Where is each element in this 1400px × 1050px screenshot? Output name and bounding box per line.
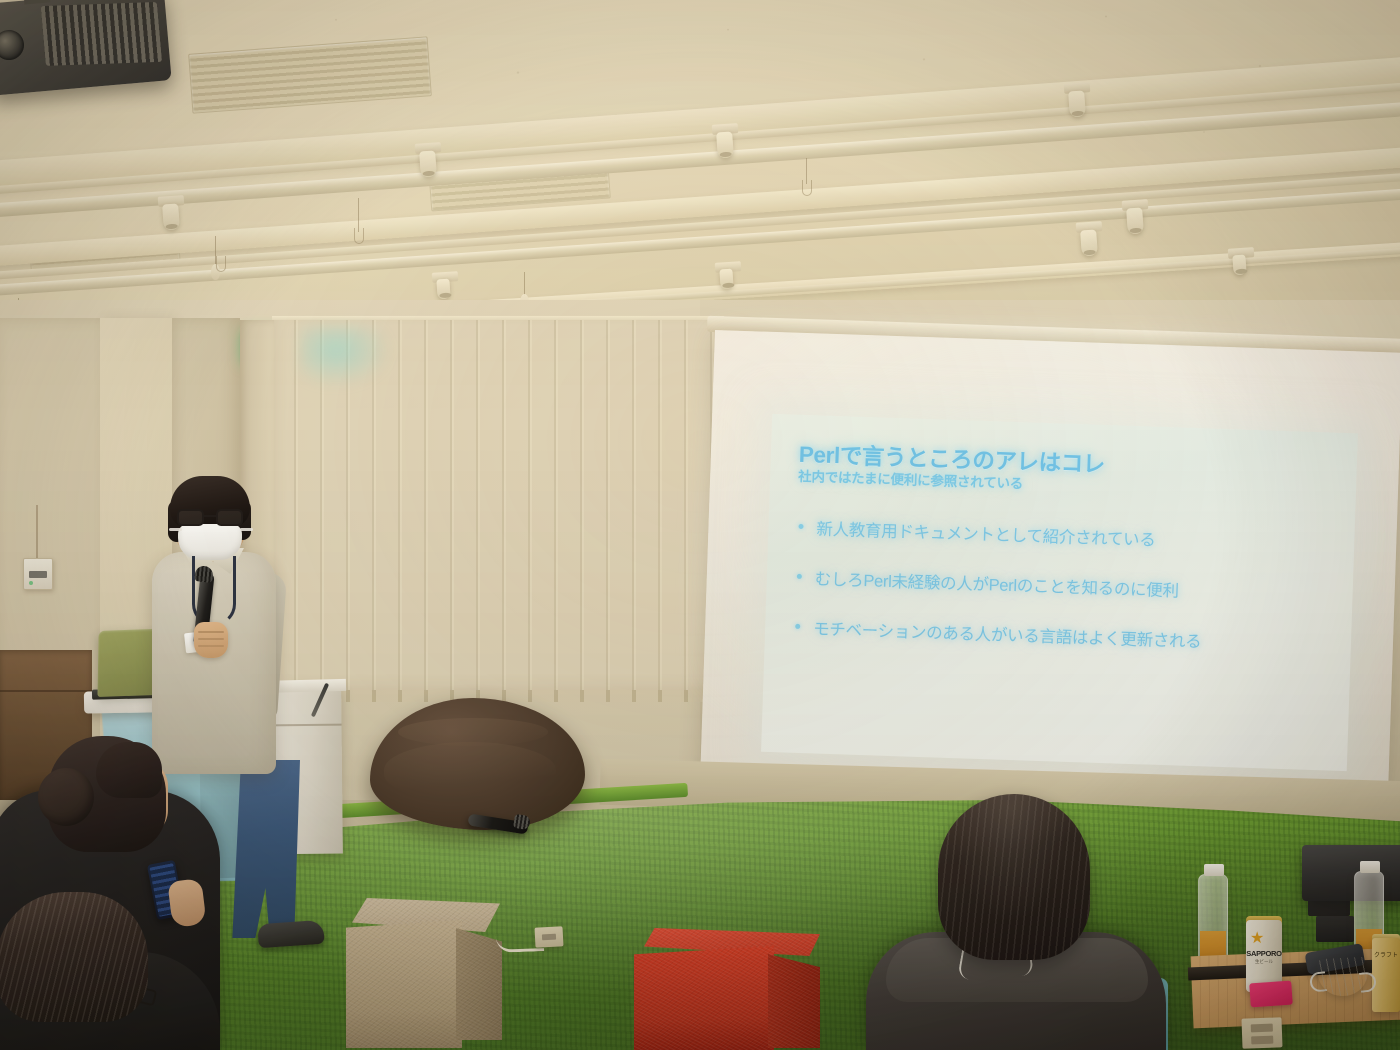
slide-bullet-list: 新人教育用ドキュメントとして紹介されている むしろPerl未経験の人がPerlの… bbox=[790, 515, 1339, 683]
wall-control-panel[interactable] bbox=[23, 558, 53, 590]
projection-screen-assembly: Perlで言うところのアレはコレ 社内ではたまに便利に参照されている 新人教育用… bbox=[699, 300, 1400, 843]
projected-slide: Perlで言うところのアレはコレ 社内ではたまに便利に参照されている 新人教育用… bbox=[761, 414, 1358, 771]
slide-bullet-item: 新人教育用ドキュメントとして紹介されている bbox=[794, 515, 1338, 557]
presenter-glasses bbox=[176, 509, 244, 526]
craft-can-label: クラフト bbox=[1372, 952, 1400, 960]
track-spotlight bbox=[419, 150, 437, 177]
dark-bench-seat[interactable] bbox=[1302, 845, 1400, 901]
ceiling-hook bbox=[802, 180, 812, 196]
cube-front-face bbox=[346, 920, 462, 1048]
control-panel-antenna bbox=[36, 505, 38, 559]
slide-bullet-item: むしろPerl未経験の人がPerlのことを知るのに便利 bbox=[792, 565, 1336, 607]
track-spotlight bbox=[716, 131, 734, 158]
control-panel-led bbox=[29, 581, 33, 585]
bottle-cap bbox=[1360, 861, 1380, 873]
floor-power-outlet[interactable] bbox=[534, 926, 563, 947]
hanging-wire bbox=[524, 272, 525, 296]
bench-leg bbox=[1316, 916, 1354, 942]
ceiling-projector bbox=[0, 0, 172, 96]
pink-card-holder[interactable] bbox=[1249, 981, 1293, 1008]
track-spotlight bbox=[162, 203, 180, 230]
blinds-light-reflection bbox=[300, 326, 390, 386]
wall-power-outlet[interactable] bbox=[1241, 1017, 1282, 1048]
ottoman-cube-red[interactable] bbox=[634, 928, 820, 1050]
projection-screen: Perlで言うところのアレはコレ 社内ではたまに便利に参照されている 新人教育用… bbox=[700, 330, 1400, 805]
projector-vent-grille bbox=[41, 2, 162, 66]
hanging-wire bbox=[358, 198, 359, 232]
glasses-lens-right bbox=[216, 509, 243, 526]
attendee-head bbox=[938, 794, 1090, 960]
slide-bullet-item: モチベーションのある人がいる言語はよく更新される bbox=[791, 615, 1335, 657]
outlet-socket bbox=[542, 934, 556, 941]
control-panel-display bbox=[29, 571, 47, 578]
track-spotlight bbox=[1068, 90, 1086, 117]
cube-side-face bbox=[456, 928, 502, 1040]
attendee-hair-bun bbox=[38, 768, 94, 826]
outlet-socket bbox=[1251, 1024, 1273, 1033]
presenter-face-mask bbox=[178, 524, 242, 560]
outlet-socket bbox=[1251, 1036, 1273, 1045]
beer-can-brand-label: SAPPORO bbox=[1246, 949, 1282, 958]
beanbag-fold bbox=[384, 742, 556, 798]
track-spotlight bbox=[1126, 207, 1144, 234]
ceiling-hook bbox=[216, 256, 226, 272]
mask-ear-strap bbox=[169, 528, 182, 531]
cube-front-face bbox=[634, 946, 774, 1050]
sapporo-star-icon: ★ bbox=[1250, 931, 1265, 946]
track-spotlight bbox=[1080, 229, 1098, 256]
wainscot-seam bbox=[0, 690, 92, 692]
projector-lens bbox=[0, 29, 25, 62]
mask-ear-strap bbox=[240, 528, 253, 531]
presentation-photo-scene: Perlで言うところのアレはコレ 社内ではたまに便利に参照されている 新人教育用… bbox=[0, 0, 1400, 1050]
beer-can-sub-label: 生ビール bbox=[1246, 959, 1282, 965]
track-spotlight bbox=[1232, 255, 1246, 276]
projector-mount bbox=[23, 0, 50, 5]
bottle-cap bbox=[1204, 864, 1224, 876]
attendee-hair-front bbox=[96, 742, 162, 798]
glasses-bridge bbox=[204, 515, 216, 517]
ceiling-hook bbox=[354, 228, 364, 244]
presenter-shoe bbox=[257, 920, 325, 949]
glasses-lens-left bbox=[177, 509, 204, 526]
presenter-hand bbox=[194, 622, 228, 658]
attendee-head bbox=[0, 892, 148, 1022]
ottoman-cube-beige[interactable] bbox=[346, 898, 502, 1050]
cube-side-face bbox=[768, 954, 820, 1048]
track-spotlight bbox=[719, 269, 733, 290]
craft-beer-can[interactable] bbox=[1372, 938, 1400, 1012]
track-spotlight bbox=[436, 279, 450, 300]
